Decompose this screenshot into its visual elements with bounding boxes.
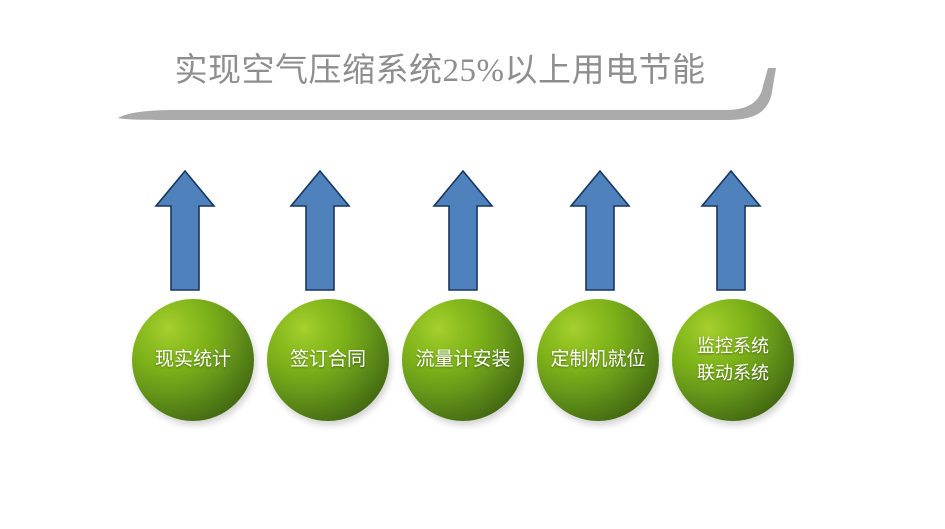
slide-canvas: 实现空气压缩系统25%以上用电节能 现实统计 签订合同 流量计安装	[0, 0, 945, 529]
step-label-1: 现实统计	[151, 347, 235, 373]
step-sphere-3[interactable]: 流量计安装	[402, 299, 524, 421]
arrow-up-3	[431, 168, 495, 294]
step-label-3: 流量计安装	[411, 347, 514, 373]
title-banner: 实现空气压缩系统25%以上用电节能	[0, 30, 945, 140]
step-sphere-1[interactable]: 现实统计	[132, 299, 254, 421]
arrow-up-1	[153, 168, 217, 294]
step-label-2: 签订合同	[286, 347, 370, 373]
step-label-4: 定制机就位	[546, 347, 649, 373]
page-title: 实现空气压缩系统25%以上用电节能	[150, 48, 730, 94]
arrow-up-4	[568, 168, 632, 294]
step-sphere-4[interactable]: 定制机就位	[537, 299, 659, 421]
step-label-5: 监控系统 联动系统	[693, 333, 773, 387]
arrow-up-2	[288, 168, 352, 294]
step-sphere-2[interactable]: 签订合同	[267, 299, 389, 421]
step-sphere-5[interactable]: 监控系统 联动系统	[672, 299, 794, 421]
arrow-up-5	[699, 168, 763, 294]
